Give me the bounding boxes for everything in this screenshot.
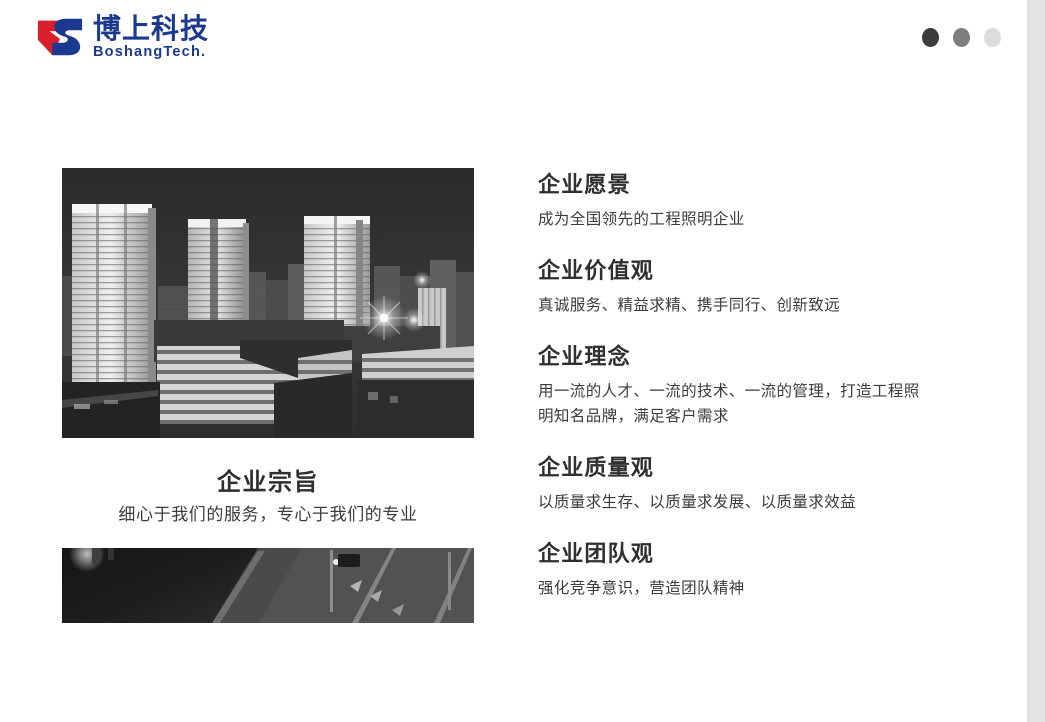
value-description: 真诚服务、精益求精、携手同行、创新致远: [538, 293, 930, 318]
carousel-dot-2[interactable]: [953, 28, 970, 47]
value-item-quality: 企业质量观 以质量求生存、以质量求发展、以质量求效益: [538, 453, 958, 515]
value-item-philosophy: 企业理念 用一流的人才、一流的技术、一流的管理，打造工程照明知名品牌，满足客户需…: [538, 342, 958, 429]
brand-logo-link[interactable]: 博上科技 BoshangTech.: [36, 13, 209, 61]
road-night-photo: [62, 548, 474, 623]
carousel-dot-1[interactable]: [922, 28, 939, 47]
vertical-scrollbar[interactable]: [1027, 0, 1045, 722]
purpose-block: 企业宗旨 细心于我们的服务，专心于我们的专业: [62, 466, 474, 528]
value-description: 用一流的人才、一流的技术、一流的管理，打造工程照明知名品牌，满足客户需求: [538, 379, 930, 429]
value-title: 企业团队观: [538, 539, 958, 571]
value-title: 企业愿景: [538, 170, 958, 202]
boshang-b-logo-icon: [36, 13, 84, 61]
carousel-dots: [922, 28, 1001, 47]
value-description: 强化竞争意识，营造团队精神: [538, 576, 930, 601]
brand-wordmark: 博上科技 BoshangTech.: [93, 14, 209, 60]
carousel-dot-3[interactable]: [984, 28, 1001, 47]
value-title: 企业价值观: [538, 256, 958, 288]
site-header: 博上科技 BoshangTech.: [0, 0, 1027, 74]
content-band: 企业宗旨 细心于我们的服务，专心于我们的专业: [0, 74, 1027, 722]
page-root: 博上科技 BoshangTech.: [0, 0, 1045, 722]
value-item-team: 企业团队观 强化竞争意识，营造团队精神: [538, 539, 958, 601]
brand-name-cn: 博上科技: [93, 14, 209, 43]
value-title: 企业质量观: [538, 453, 958, 485]
right-column: 企业愿景 成为全国领先的工程照明企业 企业价值观 真诚服务、精益求精、携手同行、…: [538, 170, 958, 601]
value-description: 以质量求生存、以质量求发展、以质量求效益: [538, 490, 930, 515]
city-night-photo: [62, 168, 474, 438]
value-item-values: 企业价值观 真诚服务、精益求精、携手同行、创新致远: [538, 256, 958, 318]
purpose-title: 企业宗旨: [66, 466, 470, 498]
brand-name-en: BoshangTech.: [93, 45, 209, 60]
value-title: 企业理念: [538, 342, 958, 374]
purpose-description: 细心于我们的服务，专心于我们的专业: [66, 504, 470, 528]
left-column: 企业宗旨 细心于我们的服务，专心于我们的专业: [62, 168, 474, 623]
value-description: 成为全国领先的工程照明企业: [538, 207, 930, 232]
value-item-vision: 企业愿景 成为全国领先的工程照明企业: [538, 170, 958, 232]
